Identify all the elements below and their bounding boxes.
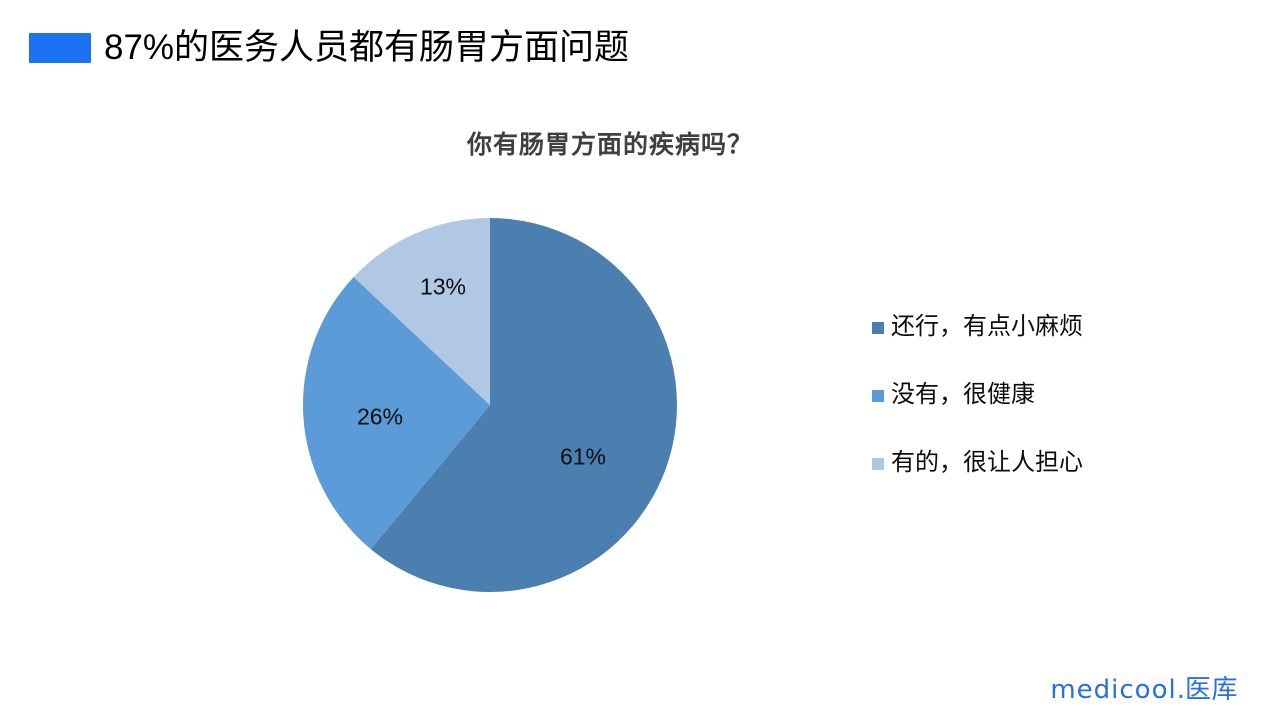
legend-item-2[interactable]: 有的，很让人担心 [872, 448, 1212, 478]
pie-graphic: 61% 26% 13% [303, 218, 677, 592]
brand-logo-dot: . [1177, 675, 1185, 705]
legend-swatch-icon-2 [872, 458, 884, 470]
legend-label-1: 没有，很健康 [891, 380, 1035, 410]
brand-logo-name: 医库 [1185, 675, 1238, 705]
pie-data-label-1: 26% [357, 404, 403, 431]
legend-item-1[interactable]: 没有，很健康 [872, 380, 1212, 410]
legend-swatch-icon-1 [872, 390, 884, 402]
pie-data-label-0: 61% [560, 444, 606, 471]
pie-chart: 你有肠胃方面的疾病吗？ 61% 26% 13% 还行，有点小麻烦 没有，很健康 … [0, 0, 1280, 720]
brand-logo-mark: medicool [1050, 675, 1176, 705]
chart-legend: 还行，有点小麻烦 没有，很健康 有的，很让人担心 [872, 312, 1212, 516]
legend-item-0[interactable]: 还行，有点小麻烦 [872, 312, 1212, 342]
legend-label-0: 还行，有点小麻烦 [891, 312, 1083, 342]
brand-logo: medicool.医库 [1050, 669, 1238, 706]
legend-swatch-icon-0 [872, 322, 884, 334]
legend-label-2: 有的，很让人担心 [891, 448, 1083, 478]
chart-title: 你有肠胃方面的疾病吗？ [0, 125, 1220, 161]
pie-data-label-2: 13% [420, 274, 466, 301]
